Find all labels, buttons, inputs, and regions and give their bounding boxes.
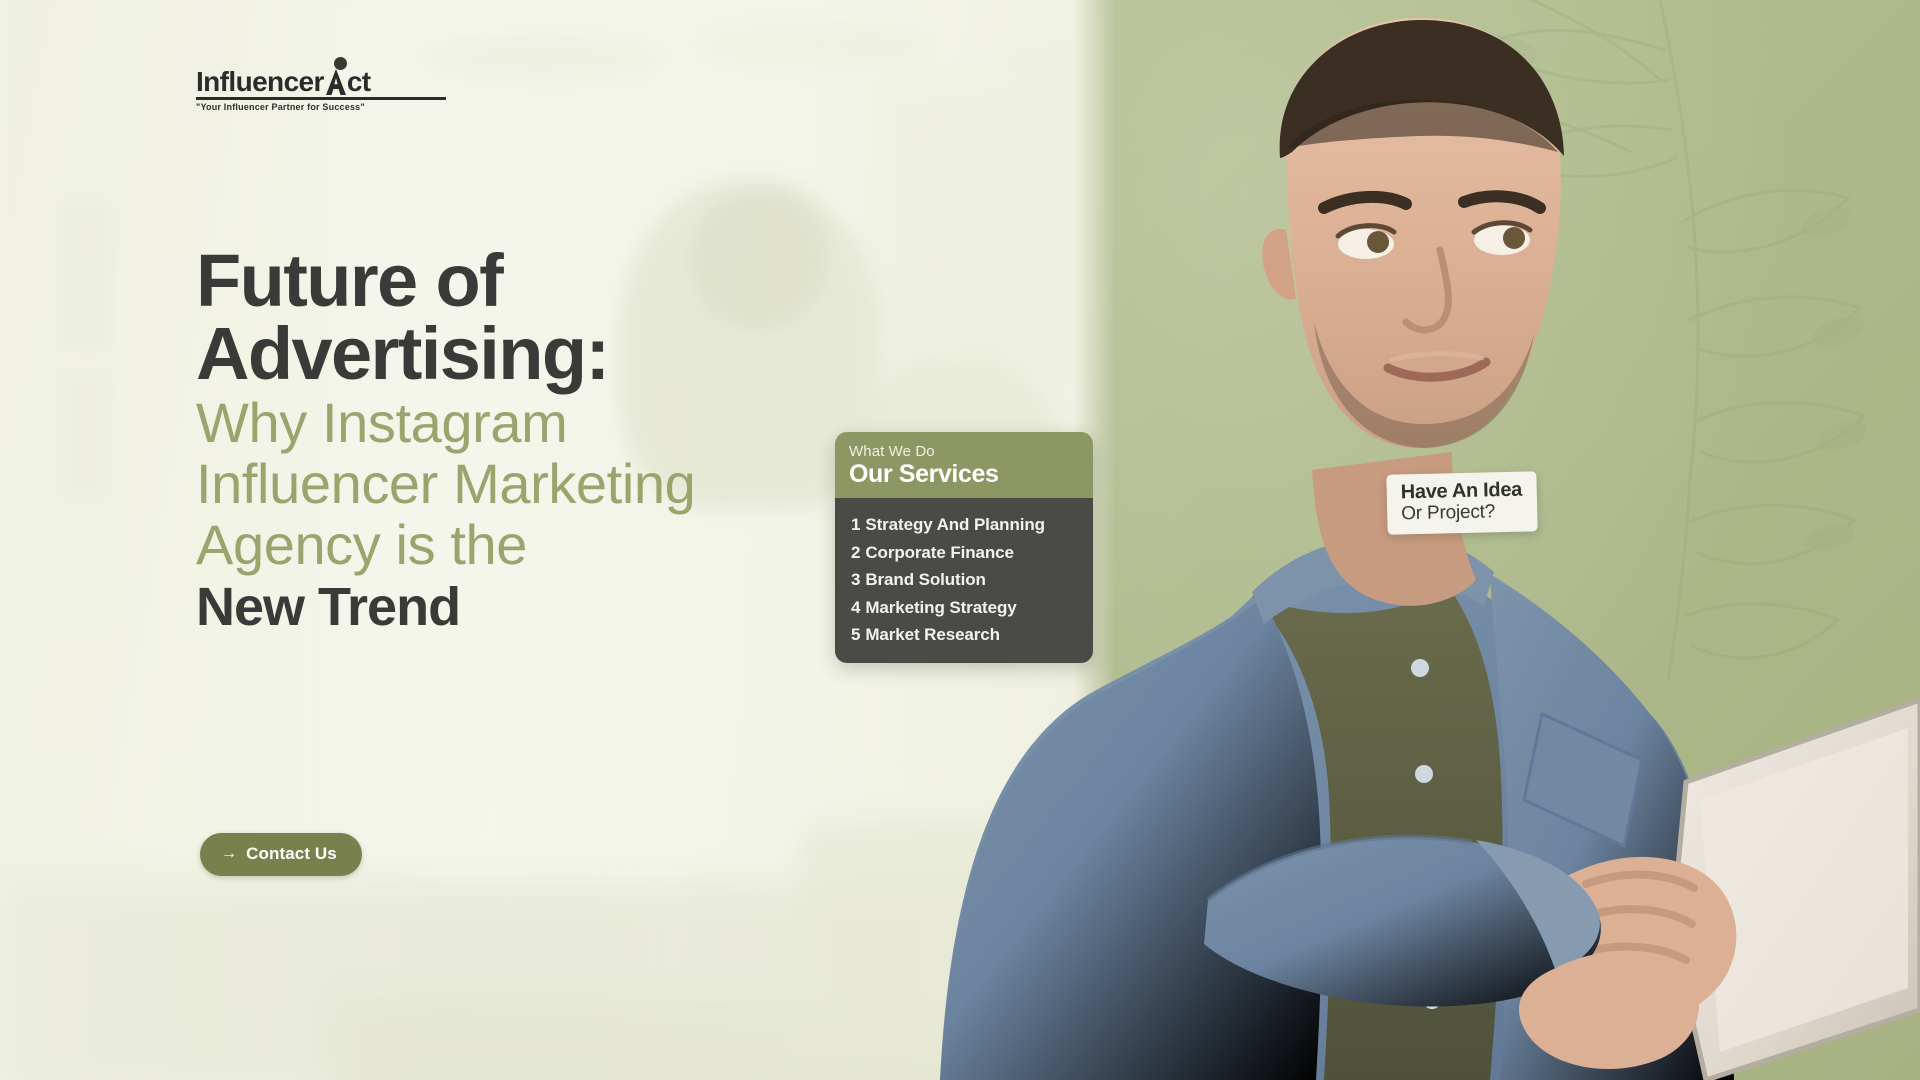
headline-line-4: Influencer Marketing [196,457,876,512]
pupil-right [1503,227,1525,249]
idea-badge-line-1: Have An Idea [1400,479,1522,504]
services-eyebrow: What We Do [849,444,1079,460]
service-number: 4 [851,598,860,617]
brand-underline [196,97,446,100]
brand-logo[interactable]: Influencer ct "Your Influencer Partner f… [196,68,446,112]
brand-a-glyph-icon [325,68,347,96]
idea-badge-line-2: Or Project? [1401,501,1523,525]
service-number: 2 [851,543,860,562]
service-list-item[interactable]: 4Marketing Strategy [851,594,1079,622]
ceiling-lamp-shape [420,34,660,82]
service-number: 5 [851,625,860,644]
arrow-right-icon: → [221,846,237,862]
brand-logo-wordmark: Influencer ct [196,68,446,96]
brand-name-part1: Influencer [196,68,324,96]
headline-line-6: New Trend [196,581,876,634]
our-services-card: What We Do Our Services 1Strategy And Pl… [835,432,1093,663]
headline-line-2: Advertising: [196,318,876,391]
our-services-card-header: What We Do Our Services [835,432,1093,498]
shirt-button [1411,659,1429,677]
brand-dot-icon [334,57,347,70]
headline-line-3: Why Instagram [196,396,876,451]
service-label: Market Research [865,625,1000,644]
wall-panel-shape [60,370,112,500]
services-title: Our Services [849,461,1079,489]
headline-line-1: Future of [196,245,876,318]
shirt-button [1415,765,1433,783]
service-list-item[interactable]: 5Market Research [851,621,1079,649]
contact-us-button[interactable]: → Contact Us [200,833,362,876]
service-number: 3 [851,570,860,589]
shirt-left-panel [940,598,1322,1080]
pupil-left [1367,231,1389,253]
service-list-item[interactable]: 3Brand Solution [851,566,1079,594]
service-label: Strategy And Planning [865,515,1045,534]
service-number: 1 [851,515,860,534]
service-label: Brand Solution [865,570,985,589]
service-list-item[interactable]: 1Strategy And Planning [851,511,1079,539]
brand-a-mark-icon [325,68,347,96]
brand-name-part2: ct [347,68,371,96]
brand-tagline: "Your Influencer Partner for Success" [196,102,446,112]
page-title: Future of Advertising: Why Instagram Inf… [196,245,876,634]
our-services-list: 1Strategy And Planning 2Corporate Financ… [835,498,1093,663]
service-label: Marketing Strategy [865,598,1016,617]
wall-panel-shape [60,200,112,350]
service-label: Corporate Finance [865,543,1014,562]
have-an-idea-badge[interactable]: Have An Idea Or Project? [1386,471,1538,534]
hero-banner: Influencer ct "Your Influencer Partner f… [0,0,1920,1080]
headline-line-5: Agency is the [196,518,876,573]
service-list-item[interactable]: 2Corporate Finance [851,539,1079,567]
contact-us-label: Contact Us [246,844,337,864]
